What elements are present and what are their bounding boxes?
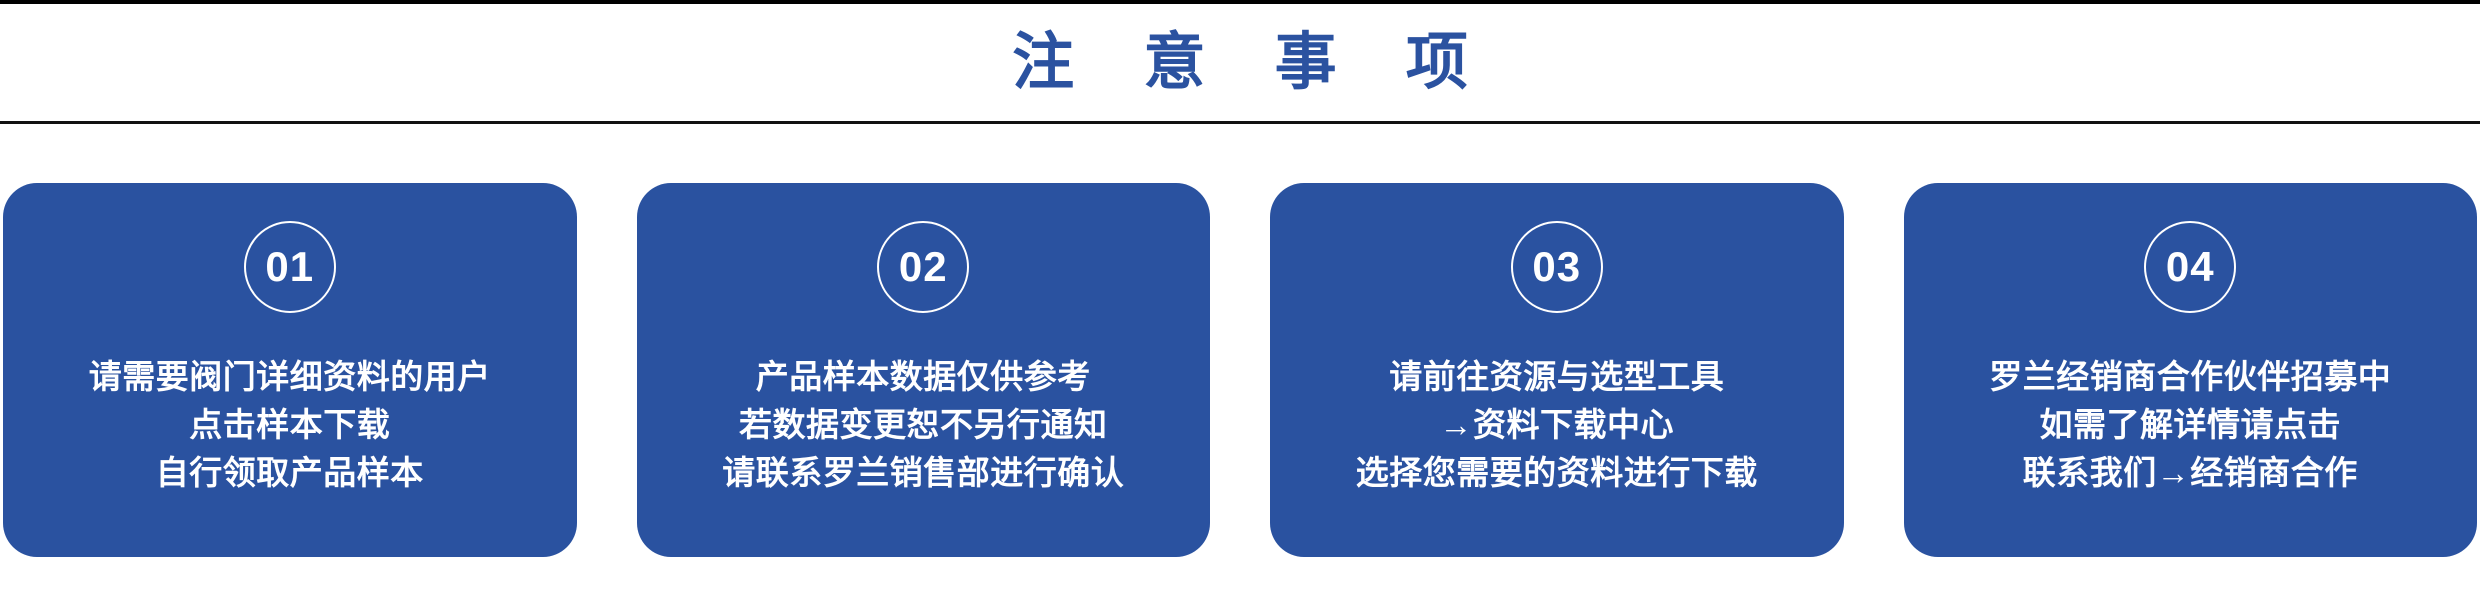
notice-section: 注 意 事 项 01 请需要阀门详细资料的用户 点击样本下载 自行领取产品样本 …	[0, 0, 2480, 591]
page-title: 注 意 事 项	[986, 32, 1494, 94]
notice-line: 自行领取产品样本	[156, 451, 424, 495]
notice-line: 请需要阀门详细资料的用户	[89, 355, 491, 399]
notice-card-01[interactable]: 01 请需要阀门详细资料的用户 点击样本下载 自行领取产品样本	[3, 183, 577, 557]
number-badge-icon: 01	[244, 221, 336, 313]
notice-line: 点击样本下载	[189, 403, 390, 447]
notice-line: 联系我们→经销商合作	[2023, 451, 2358, 495]
notice-card-03[interactable]: 03 请前往资源与选型工具 →资料下载中心 选择您需要的资料进行下载	[1270, 183, 1844, 557]
notice-line: →资料下载中心	[1440, 403, 1675, 447]
badge-number-label: 01	[265, 246, 314, 288]
notice-line: 请前往资源与选型工具	[1389, 355, 1724, 399]
badge-number-label: 03	[1532, 246, 1581, 288]
badge-number-label: 02	[899, 246, 948, 288]
badge-number-label: 04	[2166, 246, 2215, 288]
notice-line: 产品样本数据仅供参考	[756, 355, 1091, 399]
notice-card-02[interactable]: 02 产品样本数据仅供参考 若数据变更恕不另行通知 请联系罗兰销售部进行确认	[637, 183, 1211, 557]
notice-card-text: 请需要阀门详细资料的用户 点击样本下载 自行领取产品样本	[3, 355, 577, 495]
number-badge-icon: 02	[877, 221, 969, 313]
notice-card-04[interactable]: 04 罗兰经销商合作伙伴招募中 如需了解详情请点击 联系我们→经销商合作	[1904, 183, 2478, 557]
notice-line: 如需了解详情请点击	[2040, 403, 2342, 447]
notice-line: 罗兰经销商合作伙伴招募中	[1989, 355, 2391, 399]
notice-card-list: 01 请需要阀门详细资料的用户 点击样本下载 自行领取产品样本 02 产品样本数…	[0, 183, 2480, 557]
notice-card-text: 产品样本数据仅供参考 若数据变更恕不另行通知 请联系罗兰销售部进行确认	[637, 355, 1211, 495]
notice-line: 请联系罗兰销售部进行确认	[722, 451, 1124, 495]
notice-card-text: 请前往资源与选型工具 →资料下载中心 选择您需要的资料进行下载	[1270, 355, 1844, 495]
notice-line: 选择您需要的资料进行下载	[1356, 451, 1758, 495]
notice-line: 若数据变更恕不另行通知	[739, 403, 1108, 447]
section-header: 注 意 事 项	[0, 4, 2480, 122]
number-badge-icon: 04	[2144, 221, 2236, 313]
notice-card-text: 罗兰经销商合作伙伴招募中 如需了解详情请点击 联系我们→经销商合作	[1904, 355, 2478, 495]
number-badge-icon: 03	[1511, 221, 1603, 313]
header-divider	[0, 121, 2480, 124]
